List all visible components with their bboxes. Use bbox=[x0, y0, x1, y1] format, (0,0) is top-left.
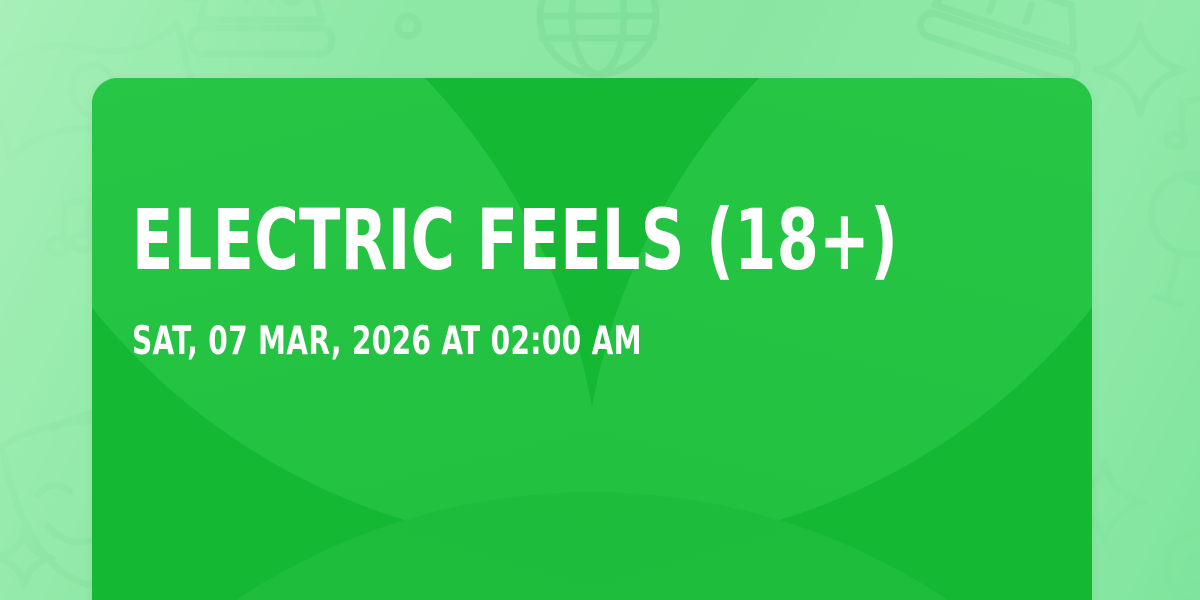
event-banner: ELECTRIC FEELS (18+) SAT, 07 MAR, 2026 A… bbox=[0, 0, 1200, 600]
sparkle-icon-3 bbox=[0, 530, 52, 586]
circle-dot-icon bbox=[398, 16, 418, 36]
microphone-icon bbox=[1111, 160, 1200, 312]
music-note-icon bbox=[48, 200, 92, 254]
ticket-icon bbox=[917, 0, 1096, 84]
music-note-icon-2 bbox=[1167, 98, 1200, 147]
event-text-block: ELECTRIC FEELS (18+) SAT, 07 MAR, 2026 A… bbox=[132, 204, 1032, 361]
event-datetime: SAT, 07 MAR, 2026 AT 02:00 AM bbox=[132, 322, 852, 361]
dj-turntable-icon bbox=[182, 0, 332, 54]
sparkle-icon bbox=[1096, 26, 1184, 114]
event-card: ELECTRIC FEELS (18+) SAT, 07 MAR, 2026 A… bbox=[92, 78, 1092, 600]
event-title: ELECTRIC FEELS (18+) bbox=[132, 204, 852, 276]
guitar-icon bbox=[1146, 486, 1200, 600]
globe-icon bbox=[540, 0, 656, 74]
